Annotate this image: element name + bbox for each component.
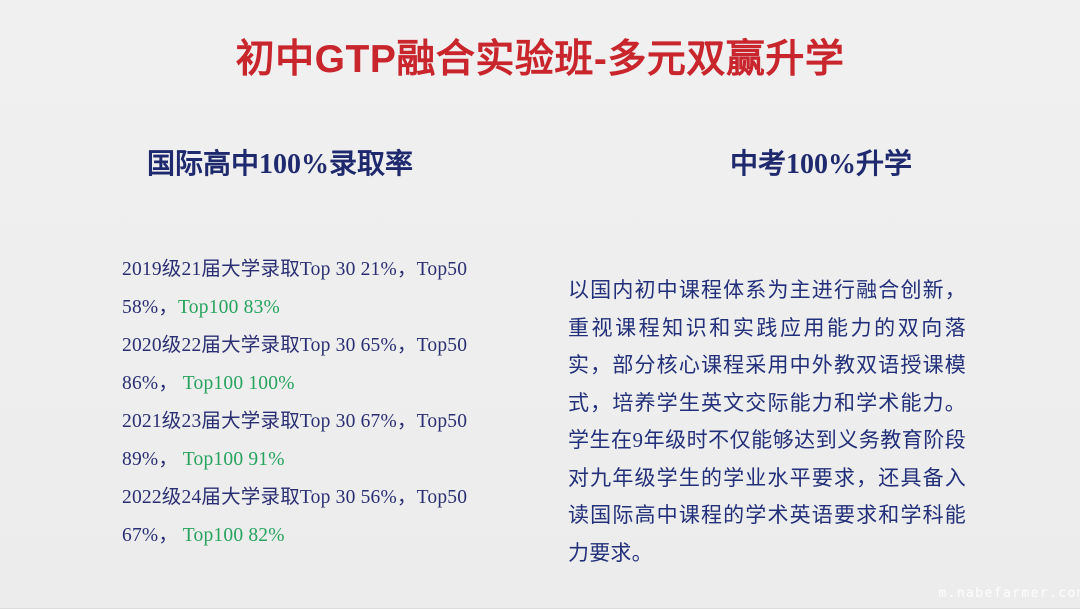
stat-top100-text: Top100 83% bbox=[178, 297, 280, 318]
stat-main-text: 2022级24届大学录取Top 30 56%，Top50 67%， bbox=[122, 487, 467, 546]
stat-top100-text: Top100 100% bbox=[178, 373, 295, 394]
list-item: 2020级22届大学录取Top 30 65%，Top50 86%， Top100… bbox=[122, 327, 522, 403]
list-item: 2019级21届大学录取Top 30 21%，Top50 58%，Top100 … bbox=[122, 251, 522, 327]
list-item: 2021级23届大学录取Top 30 67%，Top50 89%， Top100… bbox=[122, 403, 522, 479]
content-columns: 国际高中100%录取率 2019级21届大学录取Top 30 21%，Top50… bbox=[0, 148, 1080, 588]
right-column-heading: 中考100%升学 bbox=[540, 148, 1080, 182]
left-column: 国际高中100%录取率 2019级21届大学录取Top 30 21%，Top50… bbox=[0, 148, 540, 588]
admission-stats-list: 2019级21届大学录取Top 30 21%，Top50 58%，Top100 … bbox=[122, 251, 522, 555]
page-title: 初中GTP融合实验班-多元双赢升学 bbox=[0, 37, 1080, 83]
left-column-heading: 国际高中100%录取率 bbox=[0, 148, 540, 182]
slide-root: 初中GTP融合实验班-多元双赢升学 国际高中100%录取率 2019级21届大学… bbox=[0, 0, 1080, 609]
site-watermark: m.nabefarmer.com bbox=[938, 586, 1080, 602]
program-description-paragraph: 以国内初中课程体系为主进行融合创新，重视课程知识和实践应用能力的双向落实，部分核… bbox=[568, 272, 966, 572]
stat-main-text: 2021级23届大学录取Top 30 67%，Top50 89%， bbox=[122, 411, 467, 470]
stat-top100-text: Top100 82% bbox=[178, 525, 285, 546]
right-column: 中考100%升学 以国内初中课程体系为主进行融合创新，重视课程知识和实践应用能力… bbox=[540, 148, 1080, 588]
stat-main-text: 2019级21届大学录取Top 30 21%，Top50 58%， bbox=[122, 259, 467, 318]
stat-top100-text: Top100 91% bbox=[178, 449, 285, 470]
list-item: 2022级24届大学录取Top 30 56%，Top50 67%， Top100… bbox=[122, 479, 522, 555]
